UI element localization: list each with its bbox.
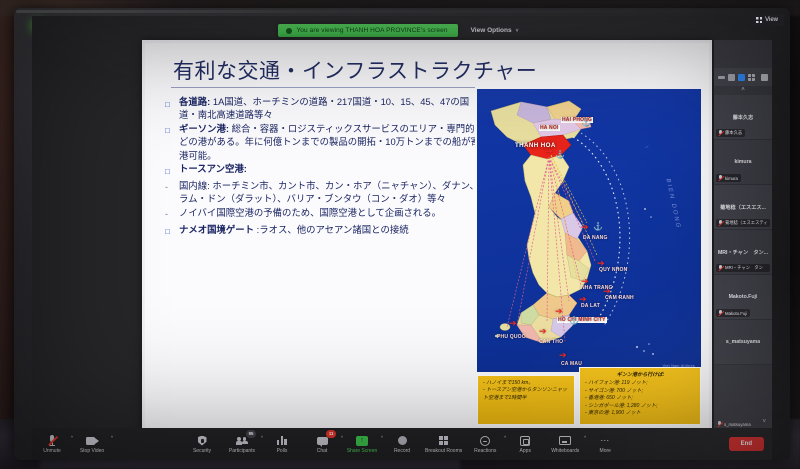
fullscreen-icon[interactable] (761, 74, 768, 81)
bullet-lead: トースアン空港: (179, 163, 247, 174)
participant-center-name: s_matsuyama (726, 339, 760, 345)
reactions-button[interactable]: Reactions ^ (465, 428, 505, 460)
bullet-text: 国内線: ホーチミン市、カント市、カン・ホア（ニャチャン）、ダナン、ラム・ドン（… (179, 179, 485, 206)
airplane-icon: ➔ (555, 307, 563, 316)
dash-bullet-icon (165, 179, 175, 206)
more-dots-icon: ⋯ (600, 435, 610, 447)
participant-tile[interactable]: kimura kimura (714, 140, 772, 185)
control-label: Polls (277, 448, 288, 454)
grid-icon (756, 17, 762, 23)
note-line: - 東京の港: 1,900 ノット (585, 410, 696, 417)
list-item: ナメオ国境ゲート :ラオス、他のアセアン諸国との接続 (165, 223, 485, 240)
view-options-label: View Options (471, 27, 512, 34)
list-item: ノイバイ国際空港の予備のため、国際空港として企画される。 (165, 206, 485, 223)
participant-name: Makoto.Fuji (725, 311, 747, 316)
control-label: Unmute (43, 448, 61, 454)
participant-tile[interactable]: 藤本久志 藤本久志 (714, 95, 772, 140)
airplane-icon: ➔ (539, 327, 547, 336)
slide-bullet-list: 各道路: 1A国道、ホーチミンの道路・217国道・10、15、45、47の国道・… (165, 95, 485, 240)
screen-share-icon (286, 28, 292, 34)
bullet-text: 各道路: 1A国道、ホーチミンの道路・217国道・10、15、45、47の国道・… (179, 95, 485, 122)
participant-tile-list: 藤本久志 藤本久志 kimura kimura (714, 95, 772, 417)
list-item: 国内線: ホーチミン市、カント市、カン・ホア（ニャチャン）、ダナン、ラム・ドン（… (165, 179, 485, 206)
participant-name: s_matsuyama (724, 422, 751, 427)
view-options-button[interactable]: View Options ˅ (464, 23, 526, 38)
whiteboards-button[interactable]: Whiteboards ^ (545, 428, 585, 460)
camera-icon (86, 435, 99, 447)
participant-tile[interactable]: 菊地稔（エスエス... 菊地稔（エスエスティー協会） (714, 185, 772, 230)
note-box-distance: - ハノイまで150 km。 - トースアン空港からタンソンニャット空港まで1時… (477, 375, 575, 425)
reactions-icon (480, 435, 490, 447)
control-label: Stop Video (80, 448, 104, 454)
map-city-label: CAN THO (539, 339, 563, 345)
microphone-muted-icon (718, 220, 723, 226)
bezel-highlight (16, 10, 788, 13)
bullet-lead: ナメオ国境ゲート (179, 224, 254, 235)
bullet-body: :ラオス、他のアセアン諸国との接続 (254, 224, 409, 235)
airplane-icon: ➔ (603, 287, 611, 296)
more-button[interactable]: ⋯ More (585, 428, 625, 460)
bullet-lead: 国内線: (179, 180, 210, 191)
participant-name-badge: MRI・チャン タン ヴァン (716, 264, 770, 272)
airplane-icon: ➔ (509, 319, 517, 328)
chevron-up-icon[interactable]: ^ (111, 435, 113, 440)
shared-slide: 有利な交通・インフラストラクチャー 各道路: 1A国道、ホーチミンの道路・217… (145, 43, 709, 428)
participant-center-name: Makoto.Fuji (729, 294, 758, 300)
bullet-body: ホーチミン市、カント市、カン・ホア（ニャチャン）、ダナン、ラム・ドン（ダラット）… (179, 180, 479, 204)
airplane-icon: ➔ (559, 351, 567, 360)
participant-name-badge: s_matsuyama (717, 421, 751, 427)
security-button[interactable]: Security (182, 428, 222, 460)
zoom-meeting-screen: You are viewing THANH HOA PROVINCE's scr… (32, 16, 772, 428)
bar-chart-icon (277, 435, 287, 447)
share-screen-icon (356, 435, 368, 447)
participant-name-badge: 菊地稔（エスエスティー協会） (716, 219, 770, 227)
square-bullet-icon (165, 223, 175, 240)
note-heading: ギンン港から行けば: (585, 372, 696, 379)
airplane-icon: ➔ (581, 223, 589, 232)
note-line: - シンガポール港: 1,280 ノット; (585, 403, 696, 410)
participant-name-badge: 藤本久志 (716, 129, 745, 137)
apps-icon (520, 435, 530, 447)
microphone-muted-icon (718, 175, 723, 181)
participant-name-badge: Makoto.Fuji (716, 309, 750, 317)
dash-bullet-icon (165, 206, 175, 223)
map-city-label: DA NANG (583, 235, 608, 241)
airplane-icon: ➔ (581, 277, 589, 286)
control-label: More (600, 448, 611, 454)
control-label: Apps (520, 448, 531, 454)
monitor: View You are viewing THANH HOA PROVINCE'… (14, 8, 790, 460)
participant-center-name: kimura (734, 159, 751, 165)
view-button-label: View (765, 17, 778, 23)
record-icon (398, 435, 407, 447)
apps-button[interactable]: Apps (505, 428, 545, 460)
sidebar-layout-toolbar (714, 68, 772, 86)
chat-button[interactable]: Chat 11 ^ (302, 428, 342, 460)
participant-center-name: 菊地稔（エスエス... (720, 204, 766, 211)
photo-scene: View You are viewing THANH HOA PROVINCE'… (0, 0, 800, 469)
airplane-icon: ➔ (597, 259, 605, 268)
control-label: Participants (229, 448, 255, 454)
map-canvas: BIEN DONG \ THANH HOA HA NOI HAI PHONG D… (477, 89, 701, 372)
share-status-text: You are viewing THANH HOA PROVINCE's scr… (296, 27, 447, 34)
square-bullet-icon (165, 95, 175, 122)
bullet-text: トースアン空港: (179, 162, 485, 179)
microphone-muted-icon (717, 421, 722, 427)
bullet-text: ナメオ国境ゲート :ラオス、他のアセアン諸国との接続 (179, 223, 485, 240)
control-label: Share Screen (347, 448, 378, 454)
share-status-banner: You are viewing THANH HOA PROVINCE's scr… (278, 24, 457, 37)
participant-name: 藤本久志 (725, 130, 742, 136)
participants-button[interactable]: Participants 95 ^ (222, 428, 262, 460)
gallery-view-icon[interactable] (748, 74, 755, 81)
microphone-muted-icon (48, 435, 57, 447)
control-label: Chat (317, 448, 328, 454)
participant-tile[interactable]: s_matsuyama (714, 320, 772, 365)
participant-name: 菊地稔（エスエスティー協会） (725, 220, 767, 226)
bullet-lead: 各道路: (179, 96, 210, 107)
whiteboard-icon (559, 435, 571, 447)
note-line: - 香港港: 650 ノット; (585, 395, 696, 402)
bullet-text: ギーソン港: 総合・容器・ロジスティックスサービスのエリア・専門的などの港がある… (179, 122, 485, 162)
square-bullet-icon (165, 162, 175, 179)
participant-name: kimura (725, 176, 738, 181)
shared-slide-frame[interactable]: 有利な交通・インフラストラクチャー 各道路: 1A国道、ホーチミンの道路・217… (142, 40, 712, 428)
airplane-icon: ➔ (545, 147, 553, 156)
list-item: ギーソン港: 総合・容器・ロジスティックスサービスのエリア・専門的などの港がある… (165, 122, 485, 162)
participant-tile[interactable]: Makoto.Fuji Makoto.Fuji (714, 275, 772, 320)
participant-tile[interactable]: MRI・チャン タン... MRI・チャン タン ヴァン (714, 230, 772, 275)
map-city-label: PHU QUOC (497, 334, 526, 340)
participant-center-name: MRI・チャン タン... (718, 249, 768, 256)
breakout-rooms-button[interactable]: Breakout Rooms (422, 428, 465, 460)
anchor-icon: ⚓ (555, 151, 565, 159)
stop-video-button[interactable]: Stop Video ^ (72, 428, 112, 460)
microphone-muted-icon (718, 310, 723, 316)
polls-button[interactable]: Polls (262, 428, 302, 460)
single-view-icon[interactable] (728, 74, 735, 81)
side-by-side-icon[interactable] (738, 74, 745, 81)
control-label: Whiteboards (551, 448, 579, 454)
view-button[interactable]: View (752, 14, 784, 26)
share-banner-row: You are viewing THANH HOA PROVINCE's scr… (32, 22, 772, 39)
meeting-control-bar: Unmute ^ Stop Video ^ Security Participa… (32, 428, 772, 460)
square-bullet-icon (165, 122, 175, 162)
bullet-body: 1A国道、ホーチミンの道路・217国道・10、15、45、47の国道・南北高速道… (179, 96, 469, 120)
participant-name: MRI・チャン タン ヴァン (725, 265, 767, 271)
participant-name-badge: kimura (716, 174, 741, 182)
map-city-label: HA NOI (539, 125, 560, 131)
participant-sidebar: ˄ 藤本久志 藤本久志 kimura kimura (714, 40, 772, 428)
control-label: Record (394, 448, 410, 454)
map-city-label: HO CHI MINH CITY (557, 317, 607, 323)
breakout-rooms-icon (439, 435, 449, 447)
participant-center-name: 藤本久志 (733, 114, 754, 121)
vietnam-map-svg (477, 89, 701, 372)
anchor-icon: ⚓ (581, 119, 591, 127)
note-line: - ハイフォン港: 119 ノット; (585, 380, 696, 387)
control-label: Breakout Rooms (425, 448, 462, 454)
shield-icon (198, 435, 207, 447)
chat-unread-badge: 11 (326, 430, 336, 438)
participants-count-badge: 95 (246, 430, 256, 438)
chevron-down-icon: ˅ (516, 28, 519, 34)
list-item: 各道路: 1A国道、ホーチミンの道路・217国道・10、15、45、47の国道・… (165, 95, 485, 122)
control-label: Reactions (474, 448, 496, 454)
bullet-text: ノイバイ国際空港の予備のため、国際空港として企画される。 (179, 206, 485, 223)
microphone-muted-icon (718, 130, 723, 136)
list-item: トースアン空港: (165, 162, 485, 179)
note-box-port-distances: ギンン港から行けば: - ハイフォン港: 119 ノット; - サイゴン港: 7… (579, 367, 701, 425)
sidebar-scroll-up-button[interactable]: ˄ (714, 86, 772, 95)
anchor-icon: ⚓ (569, 317, 579, 325)
anchor-icon: ⚓ (593, 223, 603, 231)
microphone-muted-icon (718, 265, 723, 271)
record-button[interactable]: Record (382, 428, 422, 460)
airplane-icon: ➔ (579, 295, 587, 304)
note-line: - トースアン空港からタンソンニャット空港まで1時間半 (483, 387, 570, 402)
unmute-button[interactable]: Unmute ^ (32, 428, 72, 460)
bullet-lead: ギーソン港: (179, 123, 229, 134)
share-screen-button[interactable]: Share Screen ^ (342, 428, 382, 460)
slide-title: 有利な交通・インフラストラクチャー (173, 55, 537, 85)
minimize-icon[interactable] (718, 76, 725, 79)
vietnam-map-figure: BIEN DONG \ THANH HOA HA NOI HAI PHONG D… (475, 87, 703, 427)
control-label: Security (193, 448, 211, 454)
end-meeting-button[interactable]: End (729, 437, 764, 451)
